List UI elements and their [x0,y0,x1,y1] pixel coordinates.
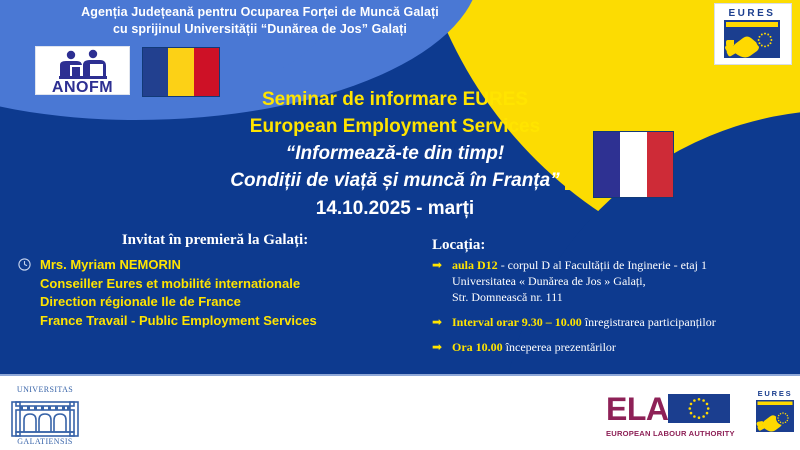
university-logo-top-text: UNIVERSITAS [17,385,73,394]
invited-speaker-details: Mrs. Myriam NEMORIN Conseiller Eures et … [40,256,317,330]
university-logo-graphic: UNIVERSITAS GALATIENSIS [6,380,84,448]
eures-logo-graphic: EURES [715,4,789,62]
eures-logo-bottom-graphic: EURES [752,386,798,442]
svg-text:ANOFM: ANOFM [52,79,113,94]
invited-speaker-heading: Invitat în premieră la Galați: [20,232,410,249]
anofm-logo-graphic: ANOFM [36,47,129,94]
organizer-line-2: cu sprijinul Universității “Dunărea de J… [0,21,520,38]
location-heading: Locația: [432,236,792,255]
speaker-direction: Direction régionale Ile de France [40,293,317,312]
organizer-header: Agenția Județeană pentru Ocuparea Forței… [0,4,520,38]
france-flag [593,131,674,198]
poster-canvas: Agenția Județeană pentru Ocuparea Forței… [0,0,800,450]
location-block: Locația: ➡ aula D12 - corpul D al Facult… [432,236,792,355]
venue-detail: - corpul D al Facultății de Inginerie - … [498,258,707,272]
arrow-bullet-icon: ➡ [432,339,452,355]
seminar-title-line-1: Seminar de informare EURES [180,86,610,113]
registration-time: Interval orar 9.30 – 10.00 [452,315,582,329]
university-galati-logo: UNIVERSITAS GALATIENSIS [6,380,84,448]
bottom-divider [0,374,800,376]
start-label: începerea prezentărilor [503,340,616,354]
arrow-bullet-icon: ➡ [432,314,452,330]
invited-speaker-block: Mrs. Myriam NEMORIN Conseiller Eures et … [18,256,418,330]
location-item-start: ➡ Ora 10.00 începerea prezentărilor [432,339,792,355]
university-logo-bottom-text: GALATIENSIS [17,437,73,446]
seminar-title-block: Seminar de informare EURES European Empl… [180,86,610,224]
anofm-logo: ANOFM [35,46,130,95]
location-item-registration: ➡ Interval orar 9.30 – 10.00 înregistrar… [432,314,792,330]
seminar-subtitle-line-1: “Informează-te din timp! [180,140,610,167]
start-time: Ora 10.00 [452,340,503,354]
seminar-title-line-2: European Employment Services [180,113,610,140]
svg-text:EURES: EURES [729,8,776,19]
arrow-bullet-icon: ➡ [432,257,452,273]
svg-text:EURES: EURES [758,389,793,398]
registration-label: înregistrarea participanților [582,315,716,329]
clock-icon [18,256,40,276]
venue-university: Universitatea « Dunărea de Jos » Galați, [452,273,707,289]
venue-hall: aula D12 [452,258,498,272]
location-item-venue: ➡ aula D12 - corpul D al Facultății de I… [432,257,792,305]
organizer-line-1: Agenția Județeană pentru Ocuparea Forței… [0,4,520,21]
venue-street: Str. Domnească nr. 111 [452,289,707,305]
speaker-name: Mrs. Myriam NEMORIN [40,256,317,275]
ela-logo: ELA EUROPEAN LABOUR AUTHORITY [604,386,736,442]
ela-logo-text: ELA [606,391,669,427]
eures-logo: EURES [752,386,798,442]
eures-logo: EURES [714,3,792,65]
speaker-role: Conseiller Eures et mobilité internation… [40,275,317,294]
seminar-subtitle-line-2: Condiții de viață și muncă în Franța” [180,167,610,194]
ela-logo-subtitle: EUROPEAN LABOUR AUTHORITY [606,429,735,438]
seminar-date: 14.10.2025 - marți [180,194,610,224]
speaker-organization: France Travail - Public Employment Servi… [40,312,317,331]
ela-logo-graphic: ELA EUROPEAN LABOUR AUTHORITY [604,386,736,442]
